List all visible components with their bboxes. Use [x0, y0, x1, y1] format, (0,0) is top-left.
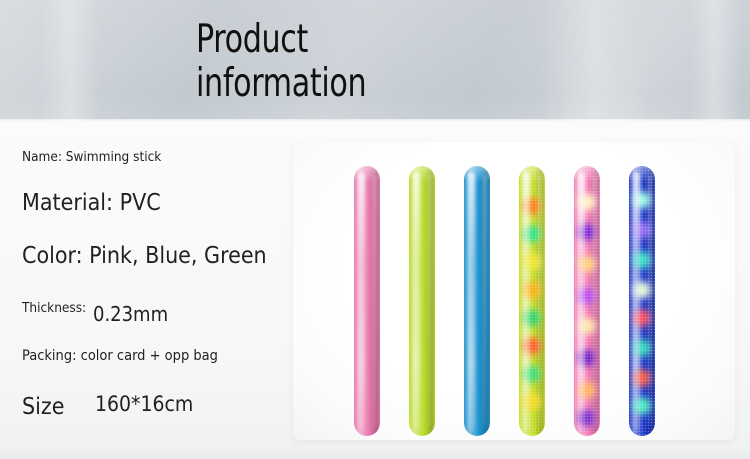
stick-highlight-edge [648, 176, 652, 426]
stick-highlight [413, 172, 420, 430]
banner-streak [40, 0, 100, 122]
stick-highlight-edge [538, 176, 542, 426]
stick-highlight-edge [483, 176, 487, 426]
spec-material: Material: PVC [22, 190, 161, 216]
product-photo-canvas [293, 142, 735, 440]
pink-led-stick [574, 166, 600, 436]
stick-highlight [578, 172, 585, 430]
stick-cap [629, 166, 655, 182]
blue-stick [464, 166, 490, 436]
spec-thickness-value: 0.23mm [93, 302, 168, 326]
stick-cap [464, 166, 490, 182]
stick-highlight-edge [373, 176, 377, 426]
stick-highlight-edge [428, 176, 432, 426]
stick-highlight [468, 172, 475, 430]
spec-thickness-label: Thickness: [22, 300, 86, 316]
green-stick [409, 166, 435, 436]
specs-list: Name: Swimming stick Material: PVC Color… [0, 122, 290, 459]
spec-size-label: Size [22, 394, 65, 420]
product-photo [293, 142, 735, 440]
stick-highlight [633, 172, 640, 430]
stick-cap [409, 166, 435, 182]
stick-cap [354, 166, 380, 182]
green-led-stick [519, 166, 545, 436]
blue-led-stick [629, 166, 655, 436]
stick-highlight [358, 172, 365, 430]
stick-highlight [523, 172, 530, 430]
stick-highlight-edge [593, 176, 597, 426]
spec-color: Color: Pink, Blue, Green [22, 243, 267, 269]
page-title: Product information [196, 18, 609, 106]
spec-size-value: 160*16cm [95, 392, 193, 416]
pink-stick [354, 166, 380, 436]
stick-cap [519, 166, 545, 182]
banner-streak [690, 0, 740, 122]
spec-packing: Packing: color card + opp bag [22, 348, 218, 364]
stick-cap [574, 166, 600, 182]
spec-product-name: Name: Swimming stick [22, 149, 161, 165]
header-banner: Product information [0, 0, 750, 122]
product-information-image: Product information Name: Swimming stick… [0, 0, 750, 459]
